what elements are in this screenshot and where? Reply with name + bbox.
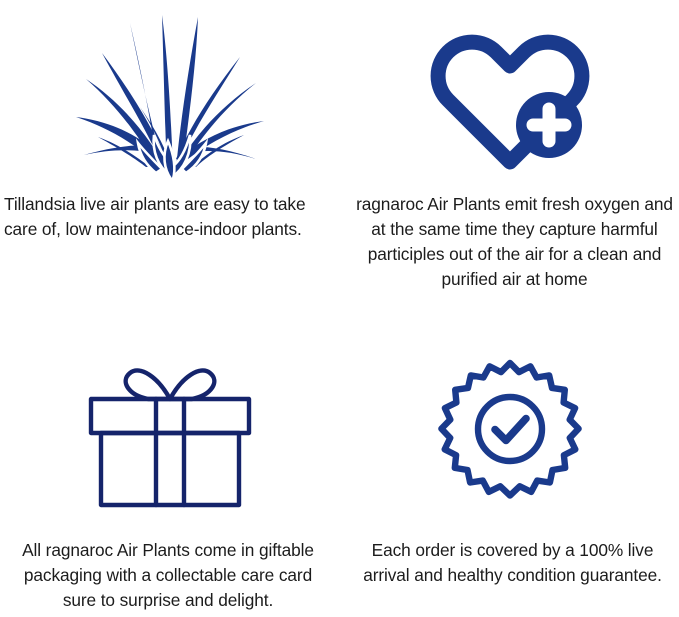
panel-caption: Tillandsia live air plants are easy to t… [0,192,340,242]
gift-box-icon-wrap [0,308,340,528]
heart-plus-icon-wrap [340,0,679,186]
badge-inner-circle [478,397,542,461]
badge-rosette [441,363,578,496]
bow-loop-left [126,371,170,399]
air-plant-icon-wrap [0,0,340,186]
feature-grid: Tillandsia live air plants are easy to t… [0,0,679,617]
guarantee-badge-icon-wrap [340,308,679,528]
gift-box-icon [82,357,258,509]
gift-lid [91,399,249,433]
feature-panel-guarantee: Each order is covered by a 100% live arr… [340,308,679,617]
feature-panel-air-quality: ragnaroc Air Plants emit fresh oxygen an… [340,0,679,308]
heart-plus-icon [426,17,594,173]
panel-caption: ragnaroc Air Plants emit fresh oxygen an… [340,192,679,292]
bow-loop-right [170,371,214,399]
body-ribbon [156,433,184,505]
feature-panel-gift-packaging: All ragnaroc Air Plants come in giftable… [0,308,340,617]
air-plant-icon [72,9,268,181]
gift-body [101,433,239,505]
check-icon [495,419,526,441]
feature-panel-air-plant: Tillandsia live air plants are easy to t… [0,0,340,308]
guarantee-badge-icon [435,358,585,508]
lid-ribbon [156,399,184,433]
panel-caption: All ragnaroc Air Plants come in giftable… [0,538,340,613]
panel-caption: Each order is covered by a 100% live arr… [340,538,679,588]
